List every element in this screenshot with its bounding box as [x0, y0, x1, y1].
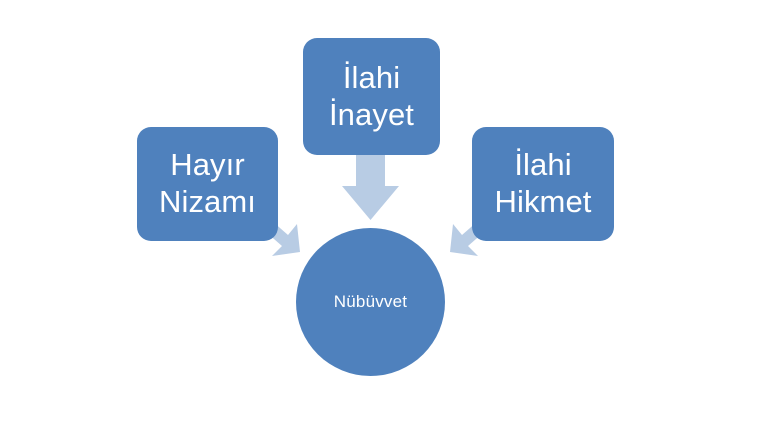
node-hayir-nizami-line1: Hayır	[170, 147, 245, 184]
node-nubuvvet-label: Nübüvvet	[334, 292, 407, 312]
node-hayir-nizami-line2: Nizamı	[159, 184, 256, 221]
node-ilahi-inayet[interactable]: İlahi İnayet	[303, 38, 440, 155]
node-ilahi-inayet-line2: İnayet	[329, 97, 414, 134]
node-ilahi-hikmet[interactable]: İlahi Hikmet	[472, 127, 614, 241]
node-hayir-nizami[interactable]: Hayır Nizamı	[137, 127, 278, 241]
diagram-canvas: İlahi İnayet Hayır Nizamı İlahi Hikmet N…	[0, 0, 762, 421]
node-ilahi-hikmet-line2: Hikmet	[494, 184, 591, 221]
node-nubuvvet[interactable]: Nübüvvet	[296, 228, 445, 376]
arrow-top-down-icon	[342, 155, 399, 220]
node-ilahi-inayet-line1: İlahi	[343, 60, 400, 97]
node-ilahi-hikmet-line1: İlahi	[514, 147, 571, 184]
